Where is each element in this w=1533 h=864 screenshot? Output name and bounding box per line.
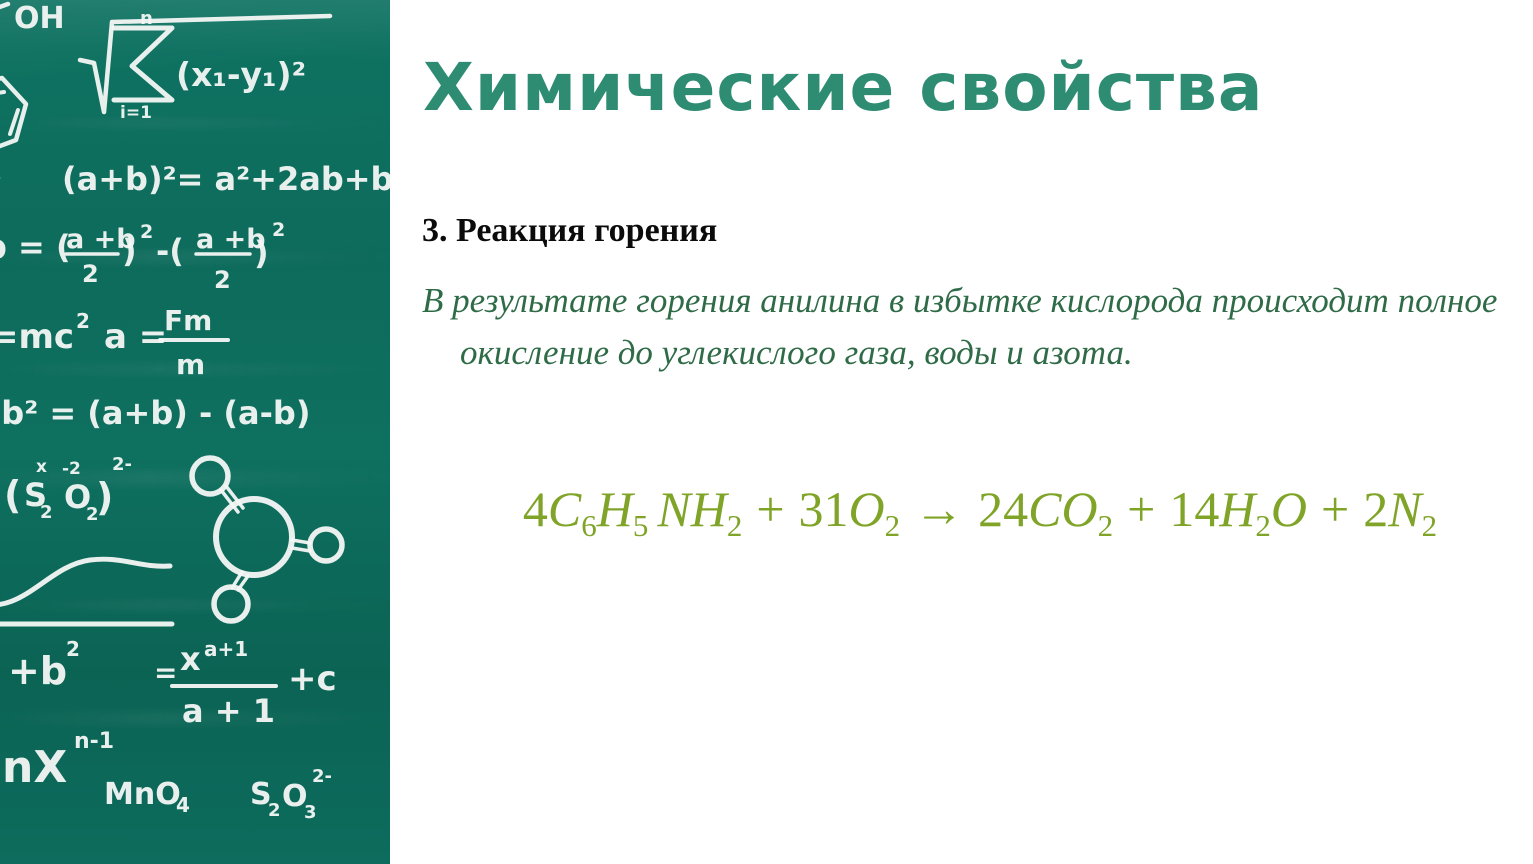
chalk-ion-close-paren: ) bbox=[96, 475, 113, 519]
chalk-minus-open: -( bbox=[156, 232, 184, 270]
equation-coefficient-1: 4 bbox=[523, 481, 548, 537]
equation-element-c: C bbox=[548, 481, 581, 537]
equation-element-h2o-o: O bbox=[1271, 481, 1307, 537]
chalk-fraction2-power: 2 bbox=[272, 219, 285, 241]
chalk-ion-sulfur-subscript: 2 bbox=[40, 502, 53, 523]
equation-coefficient-2: 2 bbox=[1363, 481, 1388, 537]
chalk-nx-power: n-1 bbox=[74, 729, 114, 754]
chalk-wave-curve bbox=[0, 559, 170, 605]
chalk-nx: nX bbox=[2, 742, 67, 793]
equation-element-o: O bbox=[849, 481, 885, 537]
chalk-sum-lower-index: i=1 bbox=[120, 103, 152, 123]
chalk-bottom-b2-power: 2 bbox=[66, 637, 80, 661]
equation-subscript-6: 6 bbox=[581, 508, 597, 543]
chalk-bottom-denominator: a + 1 bbox=[182, 692, 275, 730]
equation-subscript-n2: 2 bbox=[1422, 508, 1438, 543]
chalk-bottom-numerator: x bbox=[180, 640, 201, 678]
chalk-sum-upper-index: n bbox=[140, 8, 153, 29]
equation-element-n2: N bbox=[1388, 481, 1421, 537]
chalk-ion-oxygen-superscript: -2 bbox=[62, 459, 81, 479]
chalk-b-equals: b = ( bbox=[0, 228, 71, 266]
chalk-thiosulfate-charge: 2- bbox=[312, 766, 332, 787]
equation-element-h: H bbox=[597, 481, 633, 537]
equation-arrow: → bbox=[914, 481, 964, 537]
chalk-a-equals: a = bbox=[104, 317, 167, 357]
chalk-bottom-plus-c: +c bbox=[288, 659, 337, 699]
equation-element-h2: H bbox=[691, 481, 727, 537]
section-subheading: 3. Реакция горения bbox=[422, 210, 1482, 253]
chalk-fraction2-close: ) bbox=[254, 234, 269, 272]
equation-coefficient-24: 24 bbox=[978, 481, 1028, 537]
slide-title: Химические свойства bbox=[423, 52, 1483, 125]
chalk-label-oh: OH bbox=[14, 1, 65, 36]
chalk-fraction2-denominator: 2 bbox=[214, 266, 231, 294]
equation-subscript-o2: 2 bbox=[885, 508, 901, 543]
chalk-thiosulfate-sub1: 2 bbox=[268, 800, 281, 821]
chalk-bottom-b2: +b bbox=[8, 649, 67, 693]
equation-element-co-c: C bbox=[1028, 481, 1061, 537]
molecule-diagram-chalk-drawing bbox=[192, 458, 342, 621]
equation-subscript-h2o: 2 bbox=[1255, 508, 1271, 543]
body-paragraph: В результате горения анилина в избытке к… bbox=[422, 275, 1523, 379]
chalk-fraction1-close: ) bbox=[122, 232, 137, 270]
equation-plus-1: + bbox=[756, 481, 784, 537]
equation-plus-2: + bbox=[1127, 481, 1155, 537]
chalk-sqrt-expression: (x₁-y₁)² bbox=[176, 55, 306, 94]
chalk-formulas-drawing: OH n i=1 (x₁-y₁)² (a+b)²= a²+2ab+b² b = … bbox=[0, 0, 390, 864]
equation-element-h2o-h: H bbox=[1219, 481, 1255, 537]
chalk-difference-of-squares: -b² = (a+b) - (a-b) bbox=[0, 394, 310, 432]
chalk-square-identity: (a+b)²= a²+2ab+b² bbox=[62, 160, 390, 198]
chalk-ion-open-paren: ( bbox=[4, 473, 21, 517]
equation-plus-3: + bbox=[1321, 481, 1349, 537]
equation-subscript-co2: 2 bbox=[1098, 508, 1114, 543]
chalk-ion-charge: 2- bbox=[112, 454, 132, 475]
chalkboard-decoration-panel: OH n i=1 (x₁-y₁)² (a+b)²= a²+2ab+b² b = … bbox=[0, 0, 390, 864]
chalk-fraction1-power: 2 bbox=[140, 221, 153, 243]
equation-element-n: N bbox=[657, 481, 690, 537]
chalk-permanganate: MnO bbox=[104, 777, 181, 812]
slide-content-area: Химические свойства 3. Реакция горения В… bbox=[390, 0, 1533, 864]
chalk-permanganate-subscript: 4 bbox=[176, 793, 190, 817]
chalk-ion-sulfur-superscript: x bbox=[36, 457, 47, 477]
chalk-bottom-numerator-power: a+1 bbox=[204, 637, 248, 661]
chalk-a-fraction-denominator: m bbox=[176, 348, 205, 381]
presentation-slide: OH n i=1 (x₁-y₁)² (a+b)²= a²+2ab+b² b = … bbox=[0, 0, 1533, 864]
chalk-emc2: =mc bbox=[0, 317, 74, 357]
chalk-emc2-power: 2 bbox=[76, 309, 90, 333]
equation-coefficient-14: 14 bbox=[1169, 481, 1219, 537]
chalk-a-fraction-numerator: Fm bbox=[164, 304, 212, 337]
equation-subscript-2: 2 bbox=[727, 508, 743, 543]
chalk-thiosulfate-sub2: 3 bbox=[304, 802, 317, 823]
chalk-fraction1-denominator: 2 bbox=[82, 260, 99, 288]
equation-coefficient-31: 31 bbox=[799, 481, 849, 537]
equation-subscript-5: 5 bbox=[633, 508, 649, 543]
equation-element-co-o: O bbox=[1062, 481, 1098, 537]
body-paragraph-text: В результате горения анилина в избытке к… bbox=[422, 281, 1497, 372]
chemical-equation: 4C6H5NH2+31O2→24CO2+14H2O+2N2 bbox=[460, 483, 1500, 536]
